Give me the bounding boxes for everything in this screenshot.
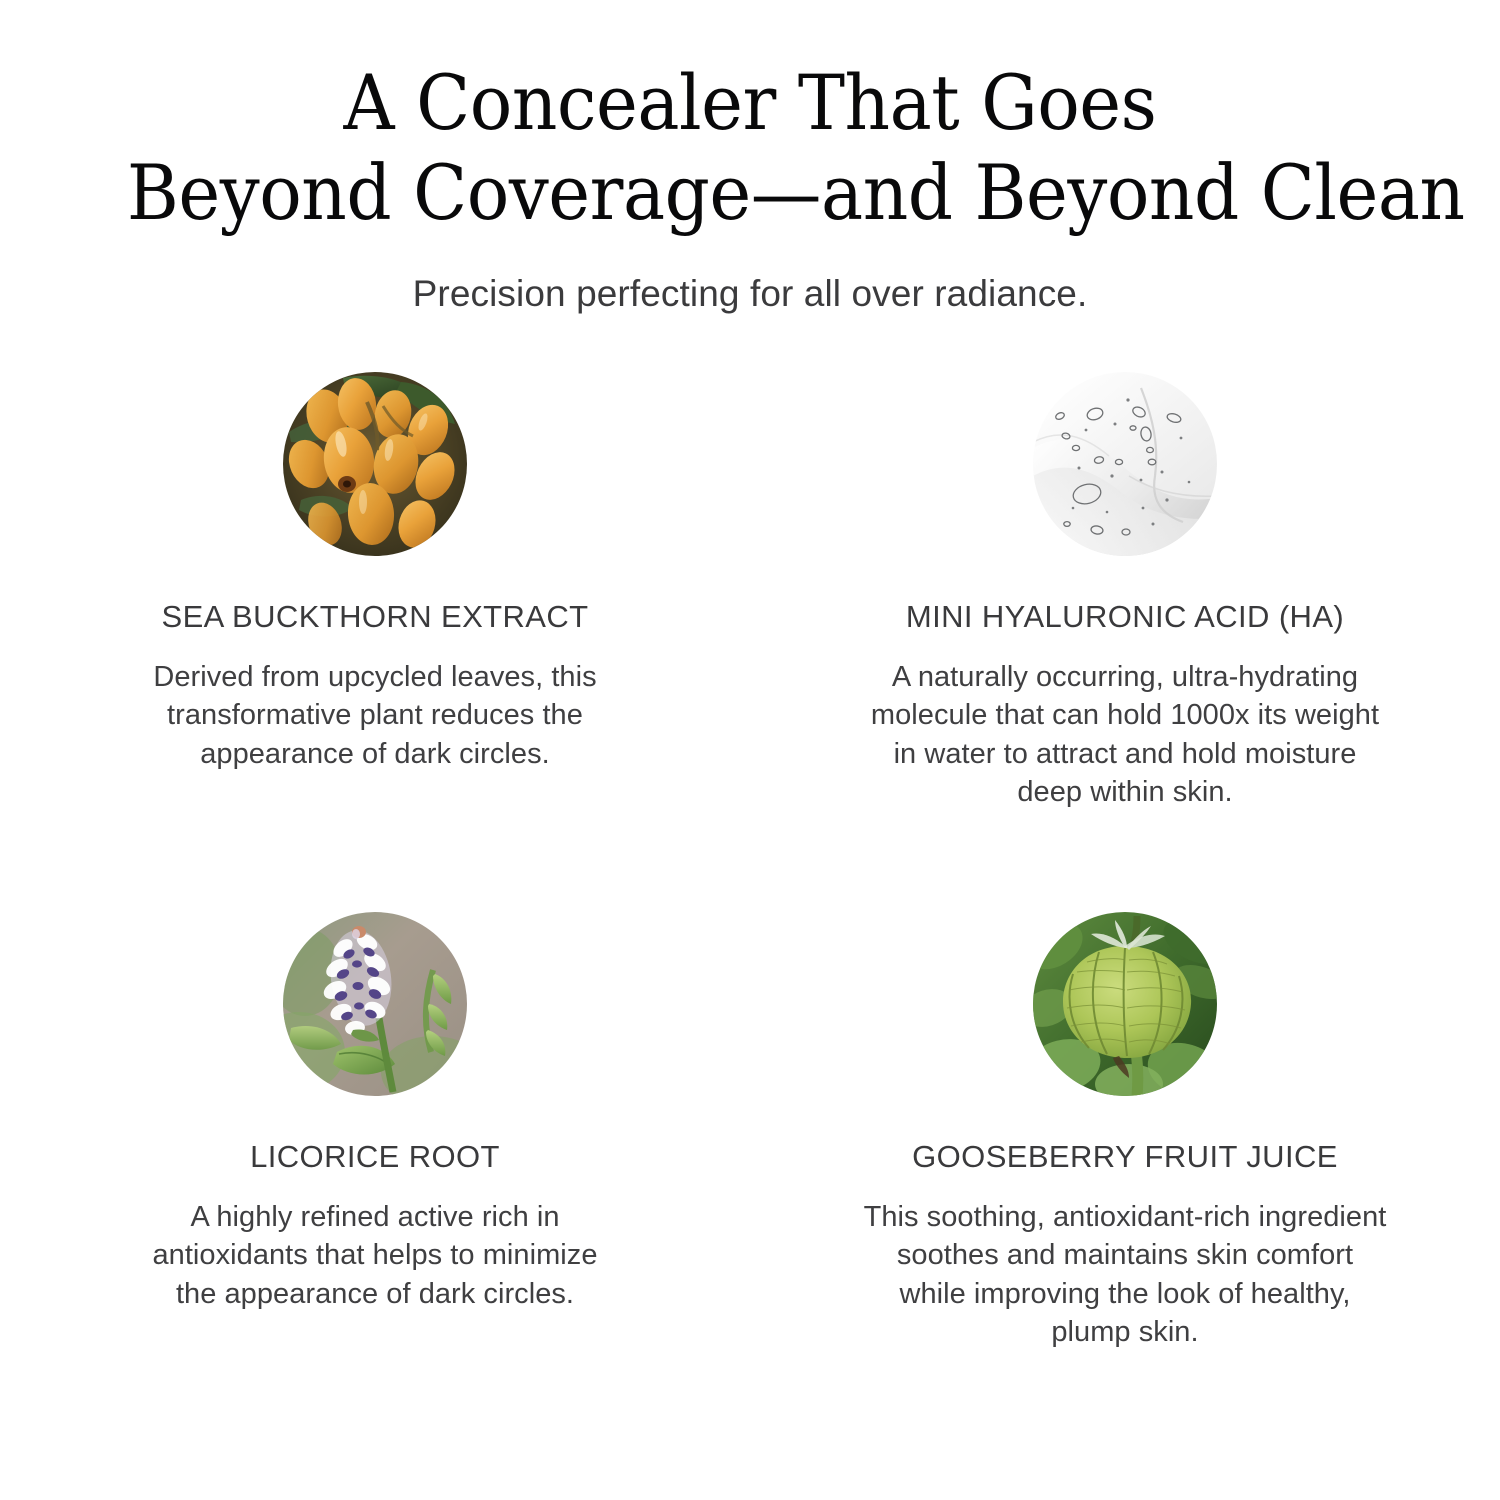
page-title-line-1: A Concealer That Goes: [127, 58, 1373, 148]
page-subtitle: Precision perfecting for all over radian…: [0, 273, 1500, 315]
ingredient-description: Derived from upcycled leaves, this trans…: [153, 658, 596, 773]
ingredient-title: SEA BUCKTHORN EXTRACT: [162, 600, 589, 634]
ingredient-description: A naturally occurring, ultra-hydrating m…: [871, 658, 1379, 811]
description-line: A highly refined active rich in: [152, 1198, 597, 1236]
description-line: Derived from upcycled leaves, this: [153, 658, 596, 696]
ingredient-card-sea-buckthorn: SEA BUCKTHORN EXTRACT Derived from upcyc…: [0, 372, 750, 912]
description-line: molecule that can hold 1000x its weight: [871, 696, 1379, 734]
page-header: A Concealer That Goes Beyond Coverage—an…: [0, 0, 1500, 315]
description-line: while improving the look of healthy,: [864, 1275, 1387, 1313]
ingredient-title: MINI HYALURONIC ACID (HA): [906, 600, 1344, 634]
ingredient-card-hyaluronic-acid: MINI HYALURONIC ACID (HA) A naturally oc…: [750, 372, 1500, 912]
ingredient-benefits-page: A Concealer That Goes Beyond Coverage—an…: [0, 0, 1500, 1500]
description-line: antioxidants that helps to minimize: [152, 1236, 597, 1274]
ingredient-title: LICORICE ROOT: [250, 1140, 500, 1174]
gooseberry-husk-photo: [1033, 912, 1217, 1096]
description-line: in water to attract and hold moisture: [871, 735, 1379, 773]
page-title-line-2: Beyond Coverage—and Beyond Clean: [127, 148, 1373, 238]
description-line: appearance of dark circles.: [153, 735, 596, 773]
description-line: A naturally occurring, ultra-hydrating: [871, 658, 1379, 696]
ingredient-description: This soothing, antioxidant-rich ingredie…: [864, 1198, 1387, 1351]
ingredient-description: A highly refined active rich in antioxid…: [152, 1198, 597, 1313]
description-line: the appearance of dark circles.: [152, 1275, 597, 1313]
licorice-root-flower-photo: [283, 912, 467, 1096]
sea-buckthorn-berries-photo: [283, 372, 467, 556]
description-line: deep within skin.: [871, 773, 1379, 811]
description-line: soothes and maintains skin comfort: [864, 1236, 1387, 1274]
description-line: This soothing, antioxidant-rich ingredie…: [864, 1198, 1387, 1236]
ingredient-card-gooseberry: GOOSEBERRY FRUIT JUICE This soothing, an…: [750, 912, 1500, 1452]
page-title: A Concealer That Goes Beyond Coverage—an…: [127, 58, 1373, 237]
ingredient-card-licorice-root: LICORICE ROOT A highly refined active ri…: [0, 912, 750, 1452]
description-line: plump skin.: [864, 1313, 1387, 1351]
description-line: transformative plant reduces the: [153, 696, 596, 734]
ingredient-grid: SEA BUCKTHORN EXTRACT Derived from upcyc…: [0, 372, 1500, 1452]
ingredient-title: GOOSEBERRY FRUIT JUICE: [912, 1140, 1338, 1174]
hyaluronic-acid-gel-texture-photo: [1033, 372, 1217, 556]
